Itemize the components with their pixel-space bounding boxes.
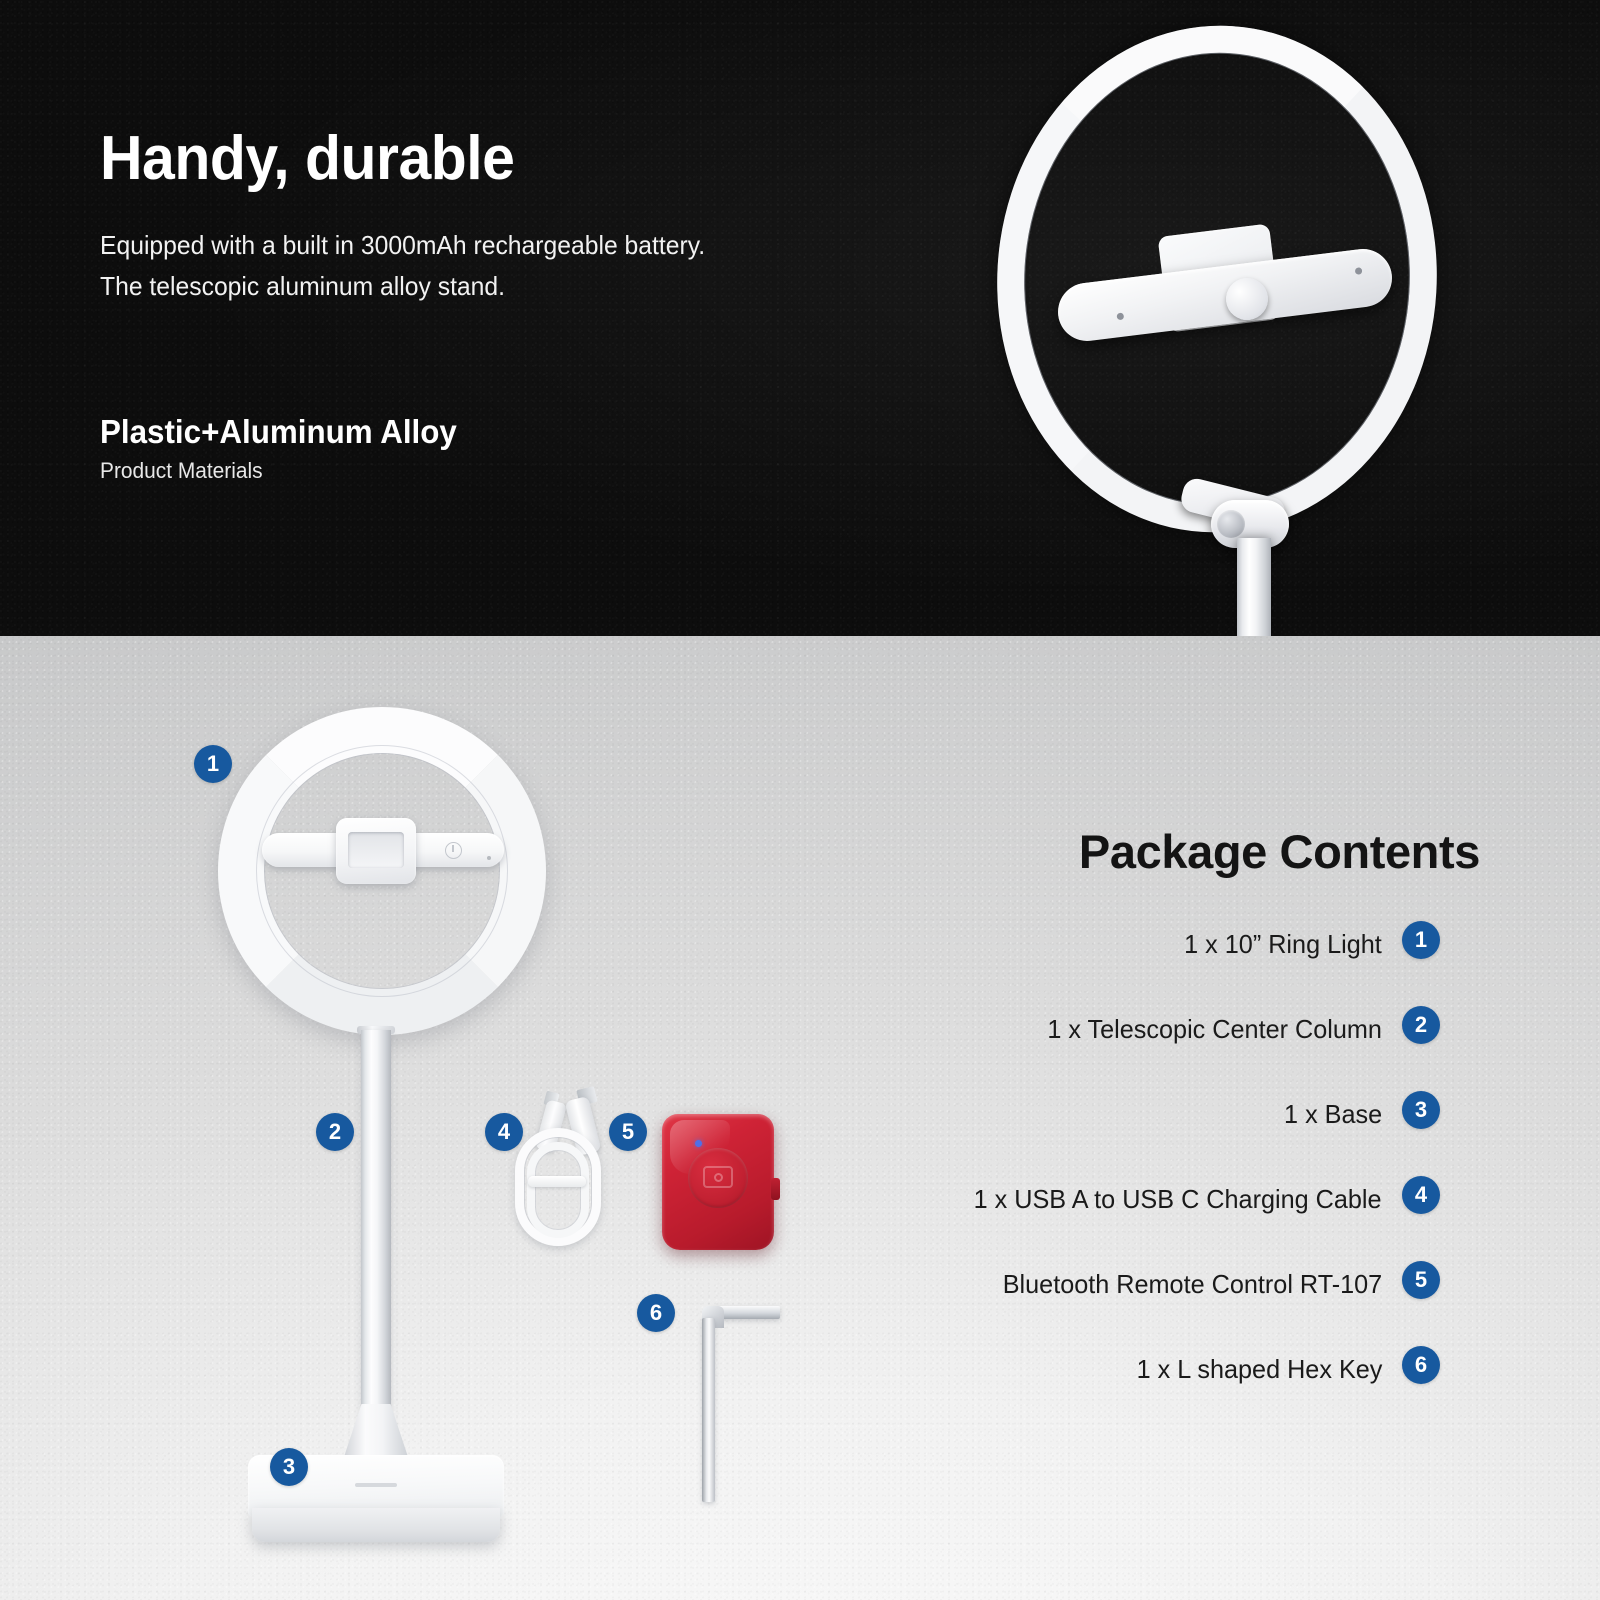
cable-tie-strap <box>528 1176 586 1187</box>
camera-icon <box>703 1166 733 1188</box>
callout-badge-charging-cable: 4 <box>485 1113 523 1151</box>
cable-coil-inner <box>527 1142 589 1238</box>
telescopic-pole <box>1237 538 1271 636</box>
package-item-badge: 1 <box>1402 921 1440 959</box>
telescopic-center-column <box>361 1030 391 1452</box>
remote-status-led <box>695 1140 702 1147</box>
hero-section: Handy, durable Equipped with a built in … <box>0 0 1600 636</box>
product-materials-value: Plastic+Aluminum Alloy <box>100 412 457 452</box>
package-list-item: 1 x Base 3 <box>880 1100 1440 1185</box>
callout-badge-remote-control: 5 <box>609 1113 647 1151</box>
base-detail-line <box>355 1483 397 1487</box>
product-materials-block: Plastic+Aluminum Alloy Product Materials <box>100 412 457 484</box>
stand-phone-clamp-slot <box>348 832 404 868</box>
package-item-badge: 5 <box>1402 1261 1440 1299</box>
hero-subtitle-line-2: The telescopic aluminum alloy stand. <box>100 271 505 301</box>
product-materials-label: Product Materials <box>100 458 457 484</box>
package-item-label: 1 x Base <box>1284 1100 1382 1129</box>
package-item-label: 1 x 10” Ring Light <box>1184 930 1382 959</box>
package-item-badge: 6 <box>1402 1346 1440 1384</box>
package-list-item: 1 x L shaped Hex Key 6 <box>880 1355 1440 1440</box>
package-item-badge: 2 <box>1402 1006 1440 1044</box>
callout-badge-ring-light: 1 <box>194 745 232 783</box>
package-item-label: 1 x USB A to USB C Charging Cable <box>974 1185 1382 1214</box>
callout-badge-hex-key: 6 <box>637 1294 675 1332</box>
package-list-item: 1 x 10” Ring Light 1 <box>880 930 1440 1015</box>
package-list-item: 1 x Telescopic Center Column 2 <box>880 1015 1440 1100</box>
hinge-lock-cap <box>1217 510 1245 538</box>
hero-subtitle-line-1: Equipped with a built in 3000mAh recharg… <box>100 230 705 260</box>
base-front-face <box>252 1508 500 1542</box>
callout-badge-center-column: 2 <box>316 1113 354 1151</box>
package-list-item: 1 x USB A to USB C Charging Cable 4 <box>880 1185 1440 1270</box>
indicator-led <box>487 856 491 860</box>
package-item-badge: 3 <box>1402 1091 1440 1129</box>
package-list-item: Bluetooth Remote Control RT-107 5 <box>880 1270 1440 1355</box>
package-contents-list: 1 x 10” Ring Light 1 1 x Telescopic Cent… <box>880 930 1440 1440</box>
package-item-badge: 4 <box>1402 1176 1440 1214</box>
hero-copy-block: Handy, durable Equipped with a built in … <box>100 126 860 307</box>
hex-key-long-arm <box>702 1318 715 1502</box>
power-button-icon <box>445 842 462 859</box>
remote-side-switch <box>771 1178 780 1200</box>
package-item-label: 1 x Telescopic Center Column <box>1047 1015 1382 1044</box>
hero-subtitle: Equipped with a built in 3000mAh recharg… <box>100 225 822 307</box>
package-contents-heading-block: Package Contents <box>960 826 1480 878</box>
clamp-screw-dot <box>1355 267 1363 275</box>
package-item-label: Bluetooth Remote Control RT-107 <box>1003 1270 1382 1299</box>
product-infographic: Handy, durable Equipped with a built in … <box>0 0 1600 1600</box>
clamp-screw-dot <box>1116 313 1124 321</box>
package-contents-heading: Package Contents <box>960 826 1480 878</box>
package-item-label: 1 x L shaped Hex Key <box>1136 1355 1382 1384</box>
hero-ring-light-image <box>985 18 1465 636</box>
hero-title: Handy, durable <box>100 126 822 191</box>
callout-badge-base: 3 <box>270 1448 308 1486</box>
